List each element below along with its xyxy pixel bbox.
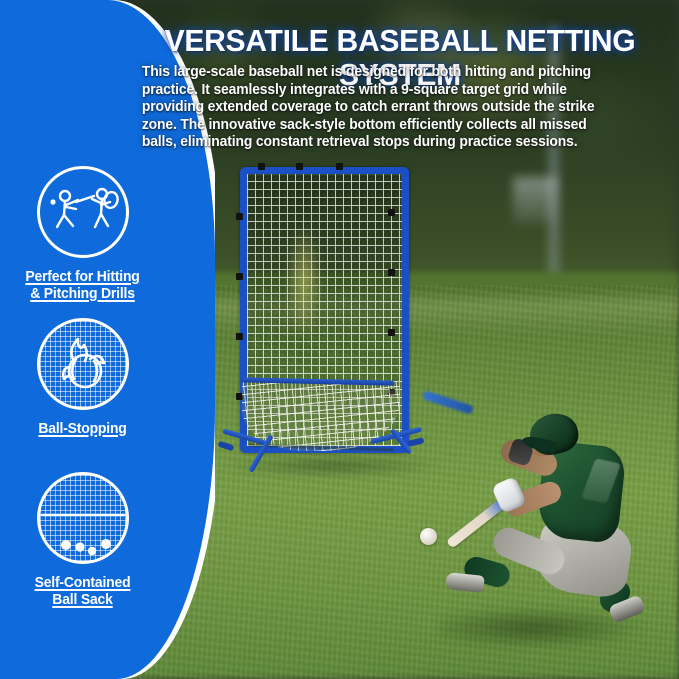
feature-label-line1: Self-Contained	[6, 574, 159, 591]
feature-item-hitting-pitching: Perfect for Hitting & Pitching Drills	[0, 166, 165, 302]
batter-and-pitcher-icon	[37, 166, 129, 258]
feature-label: Ball-Stopping	[6, 420, 159, 437]
product-infographic: Perfect for Hitting & Pitching Drills	[0, 0, 679, 679]
baseball	[420, 528, 437, 545]
net-clip	[236, 333, 243, 340]
feature-label-line1: Ball-Stopping	[6, 420, 159, 437]
feature-item-ball-stopping: Ball-Stopping	[0, 318, 165, 437]
feature-item-ball-sack: Self-Contained Ball Sack	[0, 472, 165, 608]
net-clip	[236, 213, 243, 220]
net-clip	[388, 269, 395, 276]
feature-label-line2: & Pitching Drills	[6, 285, 159, 302]
product-description: This large-scale baseball net is designe…	[142, 64, 614, 152]
net-foot-left	[217, 441, 234, 452]
feature-label-line2: Ball Sack	[6, 591, 159, 608]
net-clip	[258, 163, 265, 170]
feature-label: Perfect for Hitting & Pitching Drills	[6, 268, 159, 302]
net-clip	[388, 209, 395, 216]
baseball-netting-frame	[218, 167, 418, 467]
flaming-baseball-icon	[37, 318, 129, 410]
net-clip	[236, 273, 243, 280]
batter-front-shoe	[445, 572, 485, 593]
baseball-batter	[452, 408, 667, 658]
ball-sack-net-icon	[37, 472, 129, 564]
net-clip	[336, 163, 343, 170]
feature-label: Self-Contained Ball Sack	[6, 574, 159, 608]
feature-label-line1: Perfect for Hitting	[6, 268, 159, 285]
net-clip	[296, 163, 303, 170]
background-structure	[513, 177, 557, 225]
net-clip	[388, 329, 395, 336]
